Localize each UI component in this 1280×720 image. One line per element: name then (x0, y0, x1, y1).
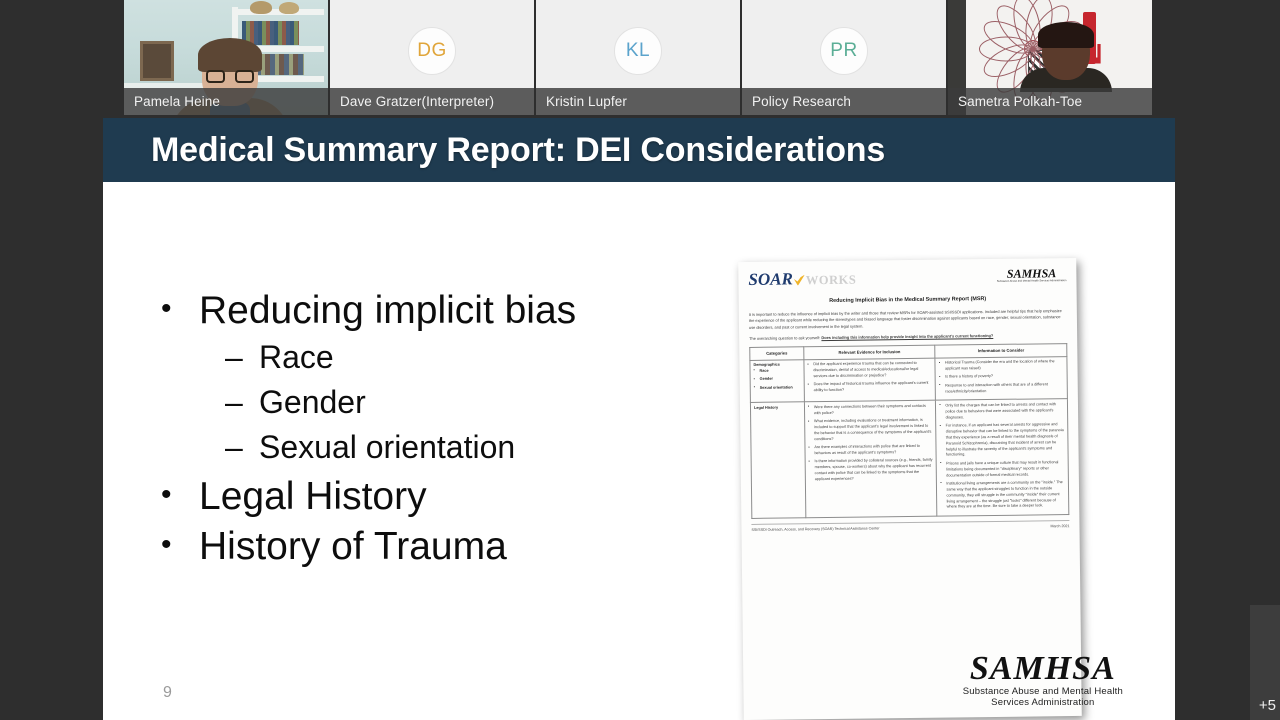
dash-marker-icon: – (225, 430, 259, 465)
participant-tile-pamela-heine[interactable]: Pamela Heine (124, 0, 328, 115)
table-cell-category: Legal History (750, 402, 805, 519)
dash-marker-icon: – (225, 340, 259, 375)
samhsa-wordmark: SAMHSA (963, 652, 1123, 686)
slide-title: Medical Summary Report: DEI Consideratio… (151, 131, 885, 170)
samhsa-logo-small: SAMHSA Substance Abuse and Mental Health… (997, 267, 1067, 284)
sub-bullet-item: – Gender (225, 385, 741, 420)
handout-footer: SSI/SSDI Outreach, Access, and Recovery … (751, 520, 1069, 533)
handout-footer-left: SSI/SSDI Outreach, Access, and Recovery … (751, 527, 879, 534)
participant-name-bar: Dave Gratzer(Interpreter) (330, 88, 534, 115)
soar-wordmark: SOAR (748, 270, 793, 288)
handout-intro-paragraph: It is important to reduce the influence … (749, 308, 1067, 331)
sub-bullet-list: – Race – Gender – Sexual orientation (161, 340, 741, 466)
table-row: DemographicsRaceGenderSexual orientation… (750, 356, 1068, 403)
bullet-text: History of Trauma (199, 526, 507, 568)
bullet-marker-icon: • (161, 476, 199, 518)
participant-name-bar: Sametra Polkah-Toe (948, 88, 1152, 115)
sub-bullet-item: – Race (225, 340, 741, 375)
soar-works-logo: SOAR WORKS (748, 270, 856, 291)
screen-share-window: Pamela Heine DG Dave Gratzer(Interpreter… (0, 0, 1280, 720)
samhsa-tagline: Substance Abuse and Mental Health Servic… (997, 279, 1067, 284)
handout-title: Reducing Implicit Bias in the Medical Su… (749, 294, 1067, 306)
table-cell-consider: Only list the charges that can be linked… (936, 399, 1069, 516)
table-header-categories: Categories (750, 347, 804, 360)
table-cell-evidence: Were there any connections between their… (804, 401, 937, 518)
sub-bullet-item: – Sexual orientation (225, 430, 741, 465)
samhsa-logo-line1: Substance Abuse and Mental Health (963, 686, 1123, 697)
participant-tile-dave-gratzer[interactable]: DG Dave Gratzer(Interpreter) (330, 0, 534, 115)
slide-body: • Reducing implicit bias – Race – Gender… (103, 182, 1175, 720)
table-cell-consider: Historical Trauma (Consider the era and … (935, 356, 1067, 400)
participant-name-bar: Kristin Lupfer (536, 88, 740, 115)
handout-footer-right: March 2021 (1050, 524, 1069, 530)
handout-header: SOAR WORKS SAMHSA Substance Abuse and Me… (748, 267, 1066, 293)
works-wordmark: WORKS (806, 271, 857, 290)
checkmark-icon (794, 275, 805, 286)
sub-bullet-text: Sexual orientation (259, 430, 515, 465)
samhsa-slide-logo: SAMHSA Substance Abuse and Mental Health… (963, 652, 1123, 708)
handout-overarching-question: The overarching question to ask yourself… (749, 332, 1067, 342)
handout-question-bold: Does including this information help pro… (821, 333, 993, 340)
participant-tile-policy-research[interactable]: PR Policy Research (742, 0, 946, 115)
participant-name: Sametra Polkah-Toe (958, 94, 1082, 109)
participant-tile-sametra-polkah-toe[interactable]: Sametra Polkah-Toe (948, 0, 1152, 115)
participant-tile-kristin-lupfer[interactable]: KL Kristin Lupfer (536, 0, 740, 115)
participant-name-bar: Pamela Heine (124, 88, 328, 115)
table-cell-evidence: Did the applicant experience trauma that… (804, 358, 936, 402)
bullet-marker-icon: • (161, 290, 199, 332)
table-cell-category: DemographicsRaceGenderSexual orientation (750, 359, 804, 403)
samhsa-wordmark: SAMHSA (997, 267, 1067, 280)
shared-slide: Medical Summary Report: DEI Consideratio… (103, 118, 1175, 720)
bullet-item: • History of Trauma (161, 526, 741, 568)
sub-bullet-text: Gender (259, 385, 366, 420)
slide-title-bar: Medical Summary Report: DEI Consideratio… (103, 118, 1175, 182)
bullet-text: Reducing implicit bias (199, 290, 576, 332)
bullet-text: Legal History (199, 476, 427, 518)
dash-marker-icon: – (225, 385, 259, 420)
slide-bullet-list: • Reducing implicit bias – Race – Gender… (161, 290, 741, 576)
participant-name: Kristin Lupfer (546, 94, 627, 109)
handout-table: Categories Relevant Evidence for Inclusi… (749, 343, 1069, 519)
avatar-initials: PR (830, 40, 857, 62)
bullet-item: • Reducing implicit bias (161, 290, 741, 332)
avatar: KL (614, 27, 662, 75)
participant-overflow-panel[interactable]: +5 (1250, 605, 1280, 720)
participant-name: Dave Gratzer(Interpreter) (340, 94, 494, 109)
slide-number: 9 (163, 684, 172, 702)
participant-name: Pamela Heine (134, 94, 220, 109)
samhsa-logo-line2: Services Administration (963, 697, 1123, 708)
bullet-marker-icon: • (161, 526, 199, 568)
avatar: DG (408, 27, 456, 75)
avatar: PR (820, 27, 868, 75)
sub-bullet-text: Race (259, 340, 334, 375)
participant-filmstrip: Pamela Heine DG Dave Gratzer(Interpreter… (124, 0, 1152, 115)
bullet-item: • Legal History (161, 476, 741, 518)
table-row: Legal HistoryWere there any connections … (750, 399, 1068, 519)
avatar-initials: KL (626, 40, 650, 62)
avatar-initials: DG (417, 40, 447, 62)
participant-name-bar: Policy Research (742, 88, 946, 115)
participant-overflow-count: +5 (1259, 697, 1276, 714)
participant-name: Policy Research (752, 94, 851, 109)
